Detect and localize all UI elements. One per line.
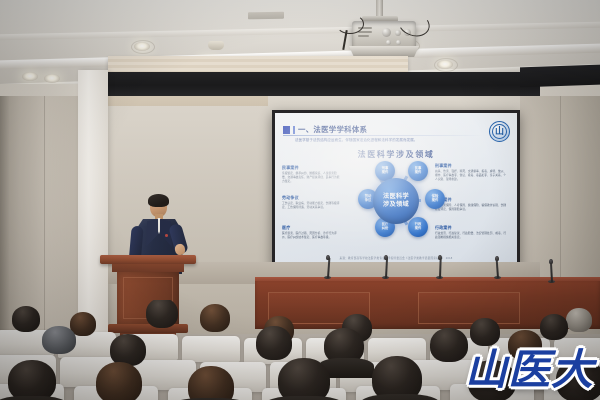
audience-head xyxy=(200,304,230,332)
audience-head xyxy=(540,314,568,340)
slide-column-right-1: 保险案件 意外伤害保险、人寿保险、健康保险、骗保欺诈识别、伤残程度评定、保险理赔… xyxy=(435,197,507,212)
microphone-head xyxy=(495,256,499,261)
audience-head-with-cap xyxy=(42,326,76,354)
title-marker-icon-secondary xyxy=(293,126,295,134)
microphone-head xyxy=(549,259,553,264)
satellite-label-line2: 案件 xyxy=(432,199,439,203)
ceiling-band xyxy=(0,22,600,41)
audience-head xyxy=(566,308,592,332)
audience-head xyxy=(96,362,142,400)
audience-head xyxy=(256,326,292,360)
column-heading: 刑事案件 xyxy=(435,163,507,169)
projection-screen: 一、法医学学科体系 法医学基于法的结构应运而生，伴随国家法治化进程和法科学的发展… xyxy=(275,113,517,265)
slide-title: 一、法医学学科体系 xyxy=(298,124,367,135)
satellite-label-line2: 案件 xyxy=(415,227,422,231)
microphone-head xyxy=(326,255,330,260)
dark-header-band xyxy=(108,72,540,96)
microphone-head xyxy=(384,255,388,260)
slide-column-left-0: 民事案件 亲权鉴定、继承纠纷、婚姻家庭、人身损害赔偿、交通事故责任、财产损失评估… xyxy=(282,165,340,184)
column-body: 工伤认定、职业病、劳动能力鉴定、伤残等级评定、工伤保险待遇、劳动关系争议。 xyxy=(282,202,340,210)
left-wall-panel xyxy=(0,96,78,334)
column-heading: 民事案件 xyxy=(282,165,340,171)
column-heading: 医疗 xyxy=(282,225,340,231)
downlight xyxy=(22,72,38,81)
slide-column-left-2: 医疗 医疗损害、医疗过错、死因分析、诊疗行为评价、医疗纠纷技术鉴定、医疗事故等级… xyxy=(282,225,340,240)
column-body: 凶杀、伤害、强奸、猝死、交通肇事、投毒、虐待、放火、爆炸、医疗事故罪、伪证、吸毒… xyxy=(435,170,507,182)
watermark: 山医大 xyxy=(465,350,594,392)
diagram-satellite-2: 保险 案件 xyxy=(425,189,445,209)
column-body: 行政处罚、行政复议、行政赔偿、治安管理处罚、戒毒、行政强制措施相关鉴定。 xyxy=(435,232,507,240)
audience-head xyxy=(470,318,500,346)
audience-head xyxy=(8,360,56,400)
hub-label-line1: 法医科学 xyxy=(383,193,409,201)
column-heading: 劳动争议 xyxy=(282,195,340,201)
presenter-hair xyxy=(148,194,169,207)
lecture-hall-photo: 一、法医学学科体系 法医学基于法的结构应运而生，伴随国家法治化进程和法科学的发展… xyxy=(0,0,600,400)
audience-head xyxy=(12,306,40,332)
podium-top xyxy=(100,255,196,264)
column-heading: 行政案件 xyxy=(435,225,507,231)
slide-title-underline xyxy=(283,135,483,136)
audience-head xyxy=(278,358,330,400)
slide-footer-citation: 来源：教育部高等学校法医学类专业教学指导委员会《法医学类教学质量国家标准》 20… xyxy=(275,256,517,260)
hub-label-line2: 涉及领域 xyxy=(383,201,409,209)
projection-screen-frame: 一、法医学学科体系 法医学基于法的结构应运而生，伴随国家法治化进程和法科学的发展… xyxy=(272,110,520,268)
slide-column-left-1: 劳动争议 工伤认定、职业病、劳动能力鉴定、伤残等级评定、工伤保险待遇、劳动关系争… xyxy=(282,195,340,210)
slide-column-right-0: 刑事案件 凶杀、伤害、强奸、猝死、交通肇事、投毒、虐待、放火、爆炸、医疗事故罪、… xyxy=(435,163,507,182)
projector-cable xyxy=(336,14,364,34)
satellite-label-line2: 案件 xyxy=(382,171,389,175)
diagram-satellite-3: 行政 案件 xyxy=(408,217,428,237)
chair xyxy=(182,336,240,362)
university-logo-glyph: 山 xyxy=(492,124,507,139)
satellite-label-line2: 案件 xyxy=(415,171,422,175)
podium-neck xyxy=(112,264,184,272)
column-body: 医疗损害、医疗过错、死因分析、诊疗行为评价、医疗纠纷技术鉴定、医疗事故等级。 xyxy=(282,232,340,240)
column-heading: 保险案件 xyxy=(435,197,507,203)
column-body: 意外伤害保险、人寿保险、健康保险、骗保欺诈识别、伤残程度评定、保险理赔争议。 xyxy=(435,204,507,212)
slide-title-bar: 一、法医学学科体系 xyxy=(283,124,367,135)
audience-head xyxy=(146,300,178,328)
audience-head xyxy=(188,366,234,400)
title-marker-icon xyxy=(283,126,290,134)
microphone-head xyxy=(438,255,442,260)
slide-heading: 法医科学涉及领域 xyxy=(275,149,517,160)
downlight xyxy=(437,60,453,69)
satellite-label-line2: 纠纷 xyxy=(382,227,389,231)
presenter-lapel-pin xyxy=(165,234,168,237)
downlight xyxy=(44,74,60,83)
satellite-label-line2: 争议 xyxy=(365,199,372,203)
presenter-hand xyxy=(174,243,186,256)
slide-subtitle: 法医学基于法的结构应运而生，伴随国家法治化进程和法科学的发展而发展。 xyxy=(295,138,417,143)
downlight xyxy=(134,42,150,51)
audience-head xyxy=(430,328,468,362)
university-logo-icon: 山 xyxy=(489,121,510,142)
column-body: 亲权鉴定、继承纠纷、婚姻家庭、人身损害赔偿、交通事故责任、财产损失评估、民事行为… xyxy=(282,172,340,184)
wall-seam xyxy=(44,96,45,334)
ceiling-vent xyxy=(248,12,284,20)
diagram-hub: 法医科学 涉及领域 xyxy=(373,178,419,224)
smoke-detector-icon xyxy=(208,41,224,50)
diagram-satellite-1: 民事 案件 xyxy=(408,161,428,181)
slide-column-right-2: 行政案件 行政处罚、行政复议、行政赔偿、治安管理处罚、戒毒、行政强制措施相关鉴定… xyxy=(435,225,507,240)
left-wall-edge xyxy=(0,96,9,334)
dark-header-band-right xyxy=(520,65,600,88)
